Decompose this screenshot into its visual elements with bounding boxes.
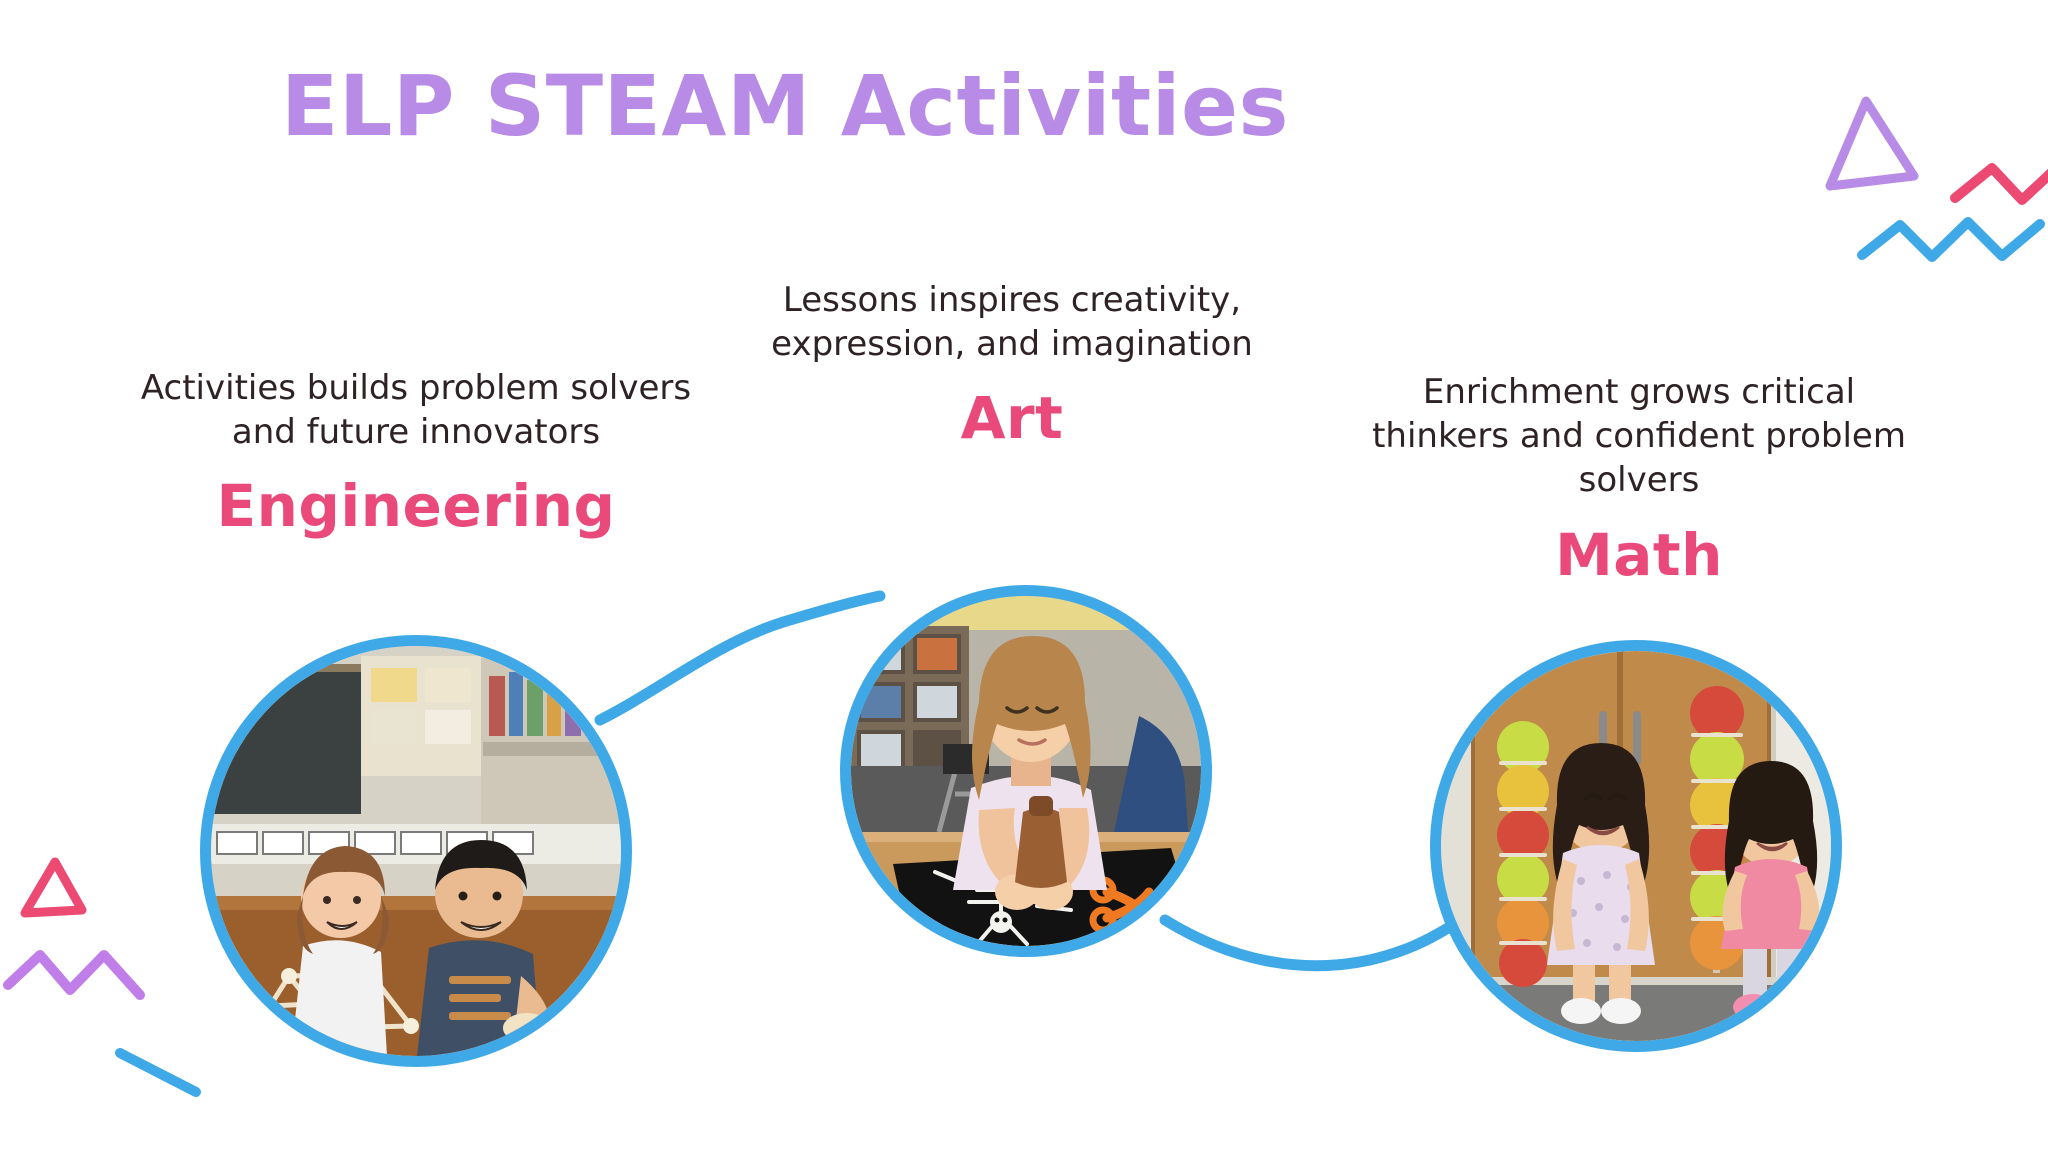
photo-math[interactable] [1430,640,1842,1052]
column-math: Enrichment grows critical thinkers and c… [1352,370,1926,585]
photo-engineering-image [211,646,621,1056]
photo-engineering[interactable] [200,635,632,1067]
photo-art[interactable] [840,585,1212,957]
label-art: Art [742,388,1282,449]
slide-canvas: ELP STEAM Activities Activities builds p… [0,0,2048,1153]
caption-art: Lessons inspires creativity, expression,… [742,278,1282,366]
column-art: Lessons inspires creativity, expression,… [742,278,1282,449]
caption-math: Enrichment grows critical thinkers and c… [1352,370,1926,503]
triangle-outline-top-right-icon [1830,101,1914,186]
label-engineering: Engineering [128,476,704,537]
zigzag-pink-top-right-icon [1955,168,2048,200]
photo-art-image [851,596,1201,946]
page-title: ELP STEAM Activities [0,62,1570,150]
photo-math-image [1441,651,1831,1041]
label-math: Math [1352,525,1926,586]
caption-engineering: Activities builds problem solvers and fu… [128,366,704,454]
line-blue-bottom-left-icon [120,1053,196,1092]
triangle-outline-bottom-left-icon [25,862,82,913]
zigzag-blue-top-right-icon [1862,222,2040,257]
zigzag-purple-bottom-left-icon [8,955,140,995]
column-engineering: Activities builds problem solvers and fu… [128,366,704,537]
